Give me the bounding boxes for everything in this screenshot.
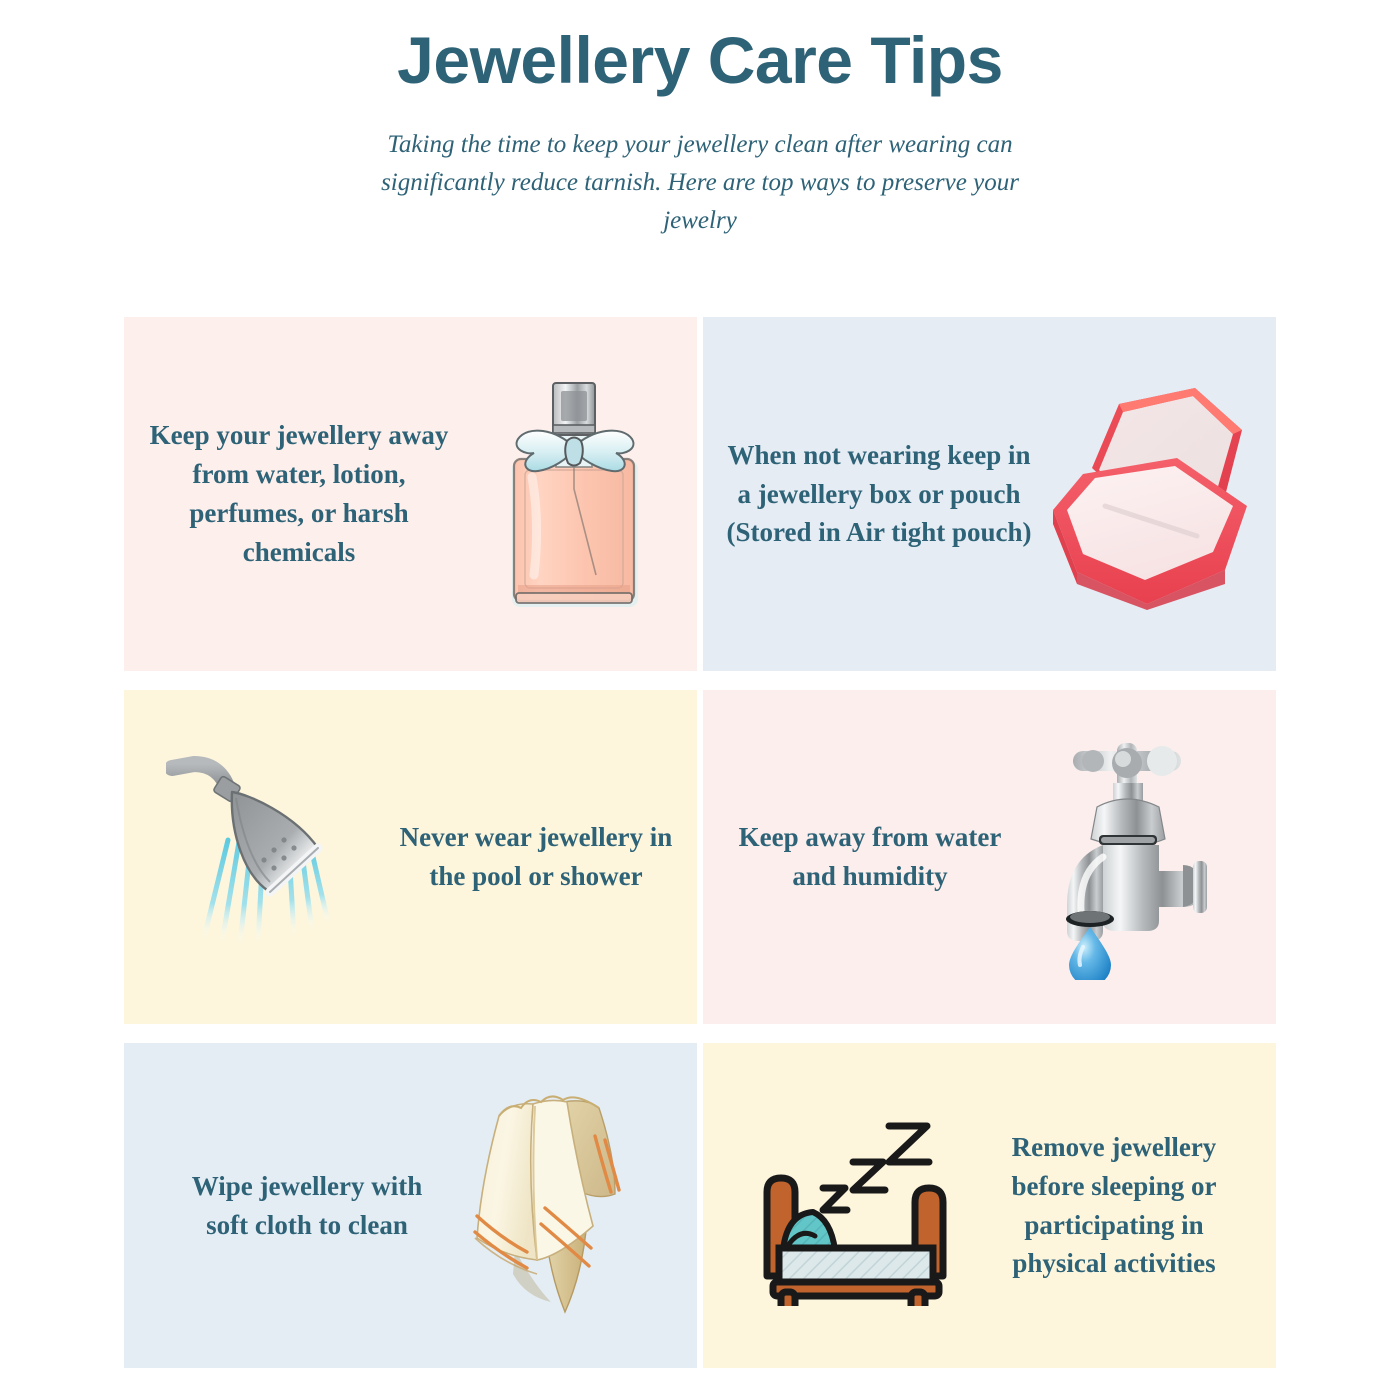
tip-card-keep-away-from-water[interactable]: Keep away from water and humidity xyxy=(703,690,1276,1024)
tip-card-label: Keep away from water and humidity xyxy=(703,818,1003,896)
tip-card-keep-away-from-chemicals[interactable]: Keep your jewellery away from water, lot… xyxy=(124,317,697,671)
tip-card-art xyxy=(1033,317,1276,671)
tip-card-art xyxy=(124,690,397,1024)
header: Jewellery Care Tips Taking the time to k… xyxy=(0,0,1400,240)
faucet-icon xyxy=(1033,735,1221,980)
perfume-bottle-icon xyxy=(490,369,658,619)
infographic-page: Jewellery Care Tips Taking the time to k… xyxy=(0,0,1400,1400)
tip-card-label: Keep your jewellery away from water, lot… xyxy=(124,416,456,572)
tip-card-label: Remove jewellery before sleeping or part… xyxy=(986,1128,1276,1284)
shower-head-icon xyxy=(166,752,366,962)
tip-card-art xyxy=(703,1043,986,1368)
ring-box-icon xyxy=(1047,378,1257,610)
tip-card-wipe-with-soft-cloth[interactable]: Wipe jewellery with soft cloth to clean xyxy=(124,1043,697,1368)
cloth-icon xyxy=(471,1090,647,1322)
tip-card-remove-before-sleeping[interactable]: Remove jewellery before sleeping or part… xyxy=(703,1043,1276,1368)
tip-card-label: Never wear jewellery in the pool or show… xyxy=(397,818,697,896)
tips-grid: Keep your jewellery away from water, lot… xyxy=(124,317,1276,1368)
page-subtitle: Taking the time to keep your jewellery c… xyxy=(380,126,1020,240)
tip-card-store-in-jewellery-box[interactable]: When not wearing keep in a jewellery box… xyxy=(703,317,1276,671)
tip-card-art xyxy=(1003,690,1276,1024)
tip-card-label: When not wearing keep in a jewellery box… xyxy=(703,436,1033,553)
bed-sleep-icon xyxy=(749,1106,959,1306)
tip-card-no-pool-or-shower[interactable]: Never wear jewellery in the pool or show… xyxy=(124,690,697,1024)
page-title: Jewellery Care Tips xyxy=(0,22,1400,100)
tip-card-art xyxy=(456,317,697,671)
tip-card-label: Wipe jewellery with soft cloth to clean xyxy=(124,1167,436,1245)
tip-card-art xyxy=(436,1043,697,1368)
